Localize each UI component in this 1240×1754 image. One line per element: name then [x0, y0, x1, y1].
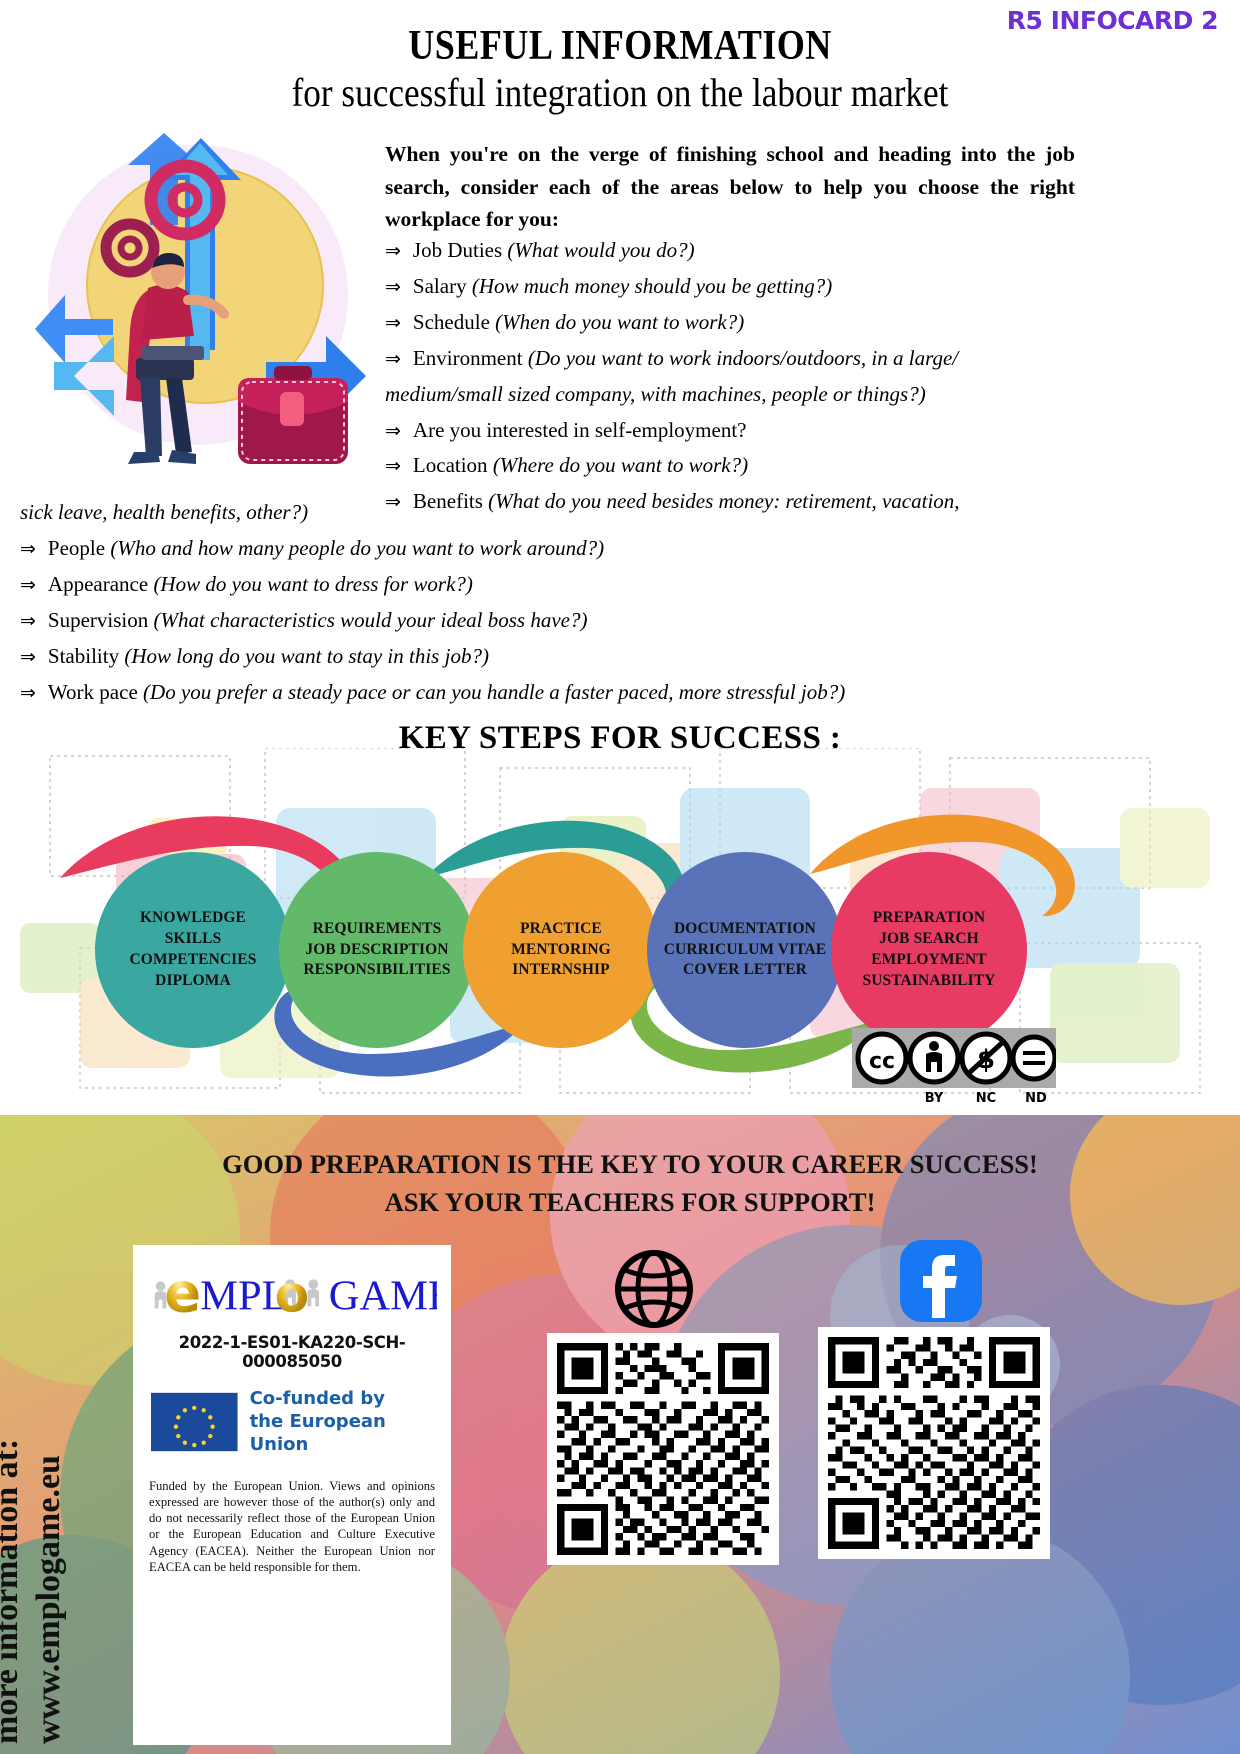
list-item-note: (What characteristics would your ideal b… [154, 608, 588, 632]
step-line: SKILLS [130, 929, 257, 950]
career-illustration [30, 130, 375, 490]
step-line: JOB DESCRIPTION [303, 940, 450, 961]
criteria-list-upper: ⇒Job Duties (What would you do?) ⇒Salary… [385, 235, 1085, 522]
list-item-note: (Who and how many people do you want to … [110, 536, 604, 560]
step-line: DOCUMENTATION [664, 919, 827, 940]
list-item-term: Salary [413, 274, 467, 298]
step-line: COMPETENCIES [130, 950, 257, 971]
qr-code-facebook[interactable] [818, 1327, 1050, 1559]
list-item: ⇒Environment (Do you want to work indoor… [385, 343, 1085, 375]
banner-headline-line1: GOOD PREPARATION IS THE KEY TO YOUR CARE… [130, 1145, 1130, 1183]
step-line: REQUIREMENTS [303, 919, 450, 940]
eu-flag-icon [151, 1391, 238, 1453]
arrow-bullet-icon: ⇒ [385, 313, 401, 334]
qr-code-website[interactable] [547, 1333, 779, 1565]
arrow-bullet-icon: ⇒ [20, 575, 36, 596]
arrow-bullet-icon: ⇒ [385, 349, 401, 370]
list-item-term: Location [413, 453, 488, 477]
list-item: ⇒Salary (How much money should you be ge… [385, 271, 1085, 303]
step-line: EMPLOYMENT [863, 950, 996, 971]
step-circle-practice[interactable]: PRACTICE MENTORING INTERNSHIP [463, 852, 659, 1048]
step-circle-preparation[interactable]: PREPARATION JOB SEARCH EMPLOYMENT SUSTAI… [831, 852, 1027, 1048]
arrow-bullet-icon: ⇒ [20, 611, 36, 632]
list-item-note: (How long do you want to stay in this jo… [124, 644, 489, 668]
list-item-term: Environment [413, 346, 523, 370]
list-item-note: (What would you do?) [507, 238, 694, 262]
title-subtitle: for successful integration on the labour… [74, 70, 1165, 116]
facebook-icon[interactable] [900, 1240, 982, 1322]
eu-funding-line2: the European Union [250, 1410, 439, 1456]
list-item: ⇒Work pace (Do you prefer a steady pace … [20, 677, 1220, 709]
list-item-continuation: sick leave, health benefits, other?) [20, 497, 1220, 529]
eu-funding-line1: Co-funded by [250, 1387, 439, 1410]
step-circle-documentation[interactable]: DOCUMENTATION CURRICULUM VITAE COVER LET… [647, 852, 843, 1048]
list-item-term: Appearance [48, 572, 148, 596]
eu-funding-block: Co-funded by the European Union [145, 1387, 439, 1456]
funding-disclaimer: Funded by the European Union. Views and … [145, 1478, 439, 1575]
svg-text:ND: ND [1025, 1091, 1047, 1106]
svg-text:o: o [275, 1264, 310, 1319]
svg-text:e: e [164, 1261, 201, 1319]
list-item-term: Work pace [48, 680, 138, 704]
arrow-bullet-icon: ⇒ [385, 241, 401, 262]
side-contact-text: more information at: www.emplogame.eu [6, 1115, 106, 1754]
intro-paragraph: When you're on the verge of finishing sc… [385, 138, 1075, 236]
list-item-continuation: medium/small sized company, with machine… [385, 379, 1085, 411]
step-line: MENTORING [511, 940, 611, 961]
list-item-term: Job Duties [413, 238, 502, 262]
svg-text:GAME: GAME [329, 1272, 437, 1319]
step-line: RESPONSIBILITIES [303, 960, 450, 981]
list-item: ⇒Location (Where do you want to work?) [385, 450, 1085, 482]
list-item: ⇒Supervision (What characteristics would… [20, 605, 1220, 637]
list-item-term: People [48, 536, 105, 560]
arrow-bullet-icon: ⇒ [20, 683, 36, 704]
step-line: CURRICULUM VITAE [664, 940, 827, 961]
arrow-bullet-icon: ⇒ [385, 421, 401, 442]
arrow-bullet-icon: ⇒ [20, 539, 36, 560]
list-item-note: (Do you prefer a steady pace or can you … [143, 680, 845, 704]
svg-text:NC: NC [976, 1091, 996, 1106]
step-line: JOB SEARCH [863, 929, 996, 950]
title-main: USEFUL INFORMATION [87, 24, 1153, 68]
list-item-note: (How much money should you be getting?) [472, 274, 832, 298]
arrow-bullet-icon: ⇒ [20, 647, 36, 668]
list-item-term: Supervision [48, 608, 148, 632]
globe-icon[interactable] [608, 1243, 700, 1335]
step-line: SUSTAINABILITY [863, 971, 996, 992]
list-item: ⇒Schedule (When do you want to work?) [385, 307, 1085, 339]
step-circle-knowledge[interactable]: KNOWLEDGE SKILLS COMPETENCIES DIPLOMA [95, 852, 291, 1048]
criteria-list-lower: sick leave, health benefits, other?) ⇒Pe… [20, 497, 1220, 712]
list-item: ⇒Are you interested in self-employment? [385, 415, 1085, 447]
eu-funding-text: Co-funded by the European Union [250, 1387, 439, 1456]
svg-text:cc: cc [869, 1049, 895, 1074]
emplogame-logo: e MPL o GAME [145, 1259, 439, 1321]
step-line: COVER LETTER [664, 960, 827, 981]
creative-commons-badge: cc $ BY NC ND [852, 1028, 1056, 1106]
arrow-bullet-icon: ⇒ [385, 456, 401, 477]
list-item-term: Schedule [413, 310, 490, 334]
svg-text:BY: BY [925, 1091, 944, 1106]
side-line-2: www.emplogame.eu [30, 1455, 68, 1744]
banner-headline-line2: ASK YOUR TEACHERS FOR SUPPORT! [130, 1183, 1130, 1221]
banner-headline: GOOD PREPARATION IS THE KEY TO YOUR CARE… [130, 1145, 1130, 1222]
list-item-note: (Where do you want to work?) [493, 453, 748, 477]
key-steps-circles: KNOWLEDGE SKILLS COMPETENCIES DIPLOMA RE… [95, 845, 1145, 1055]
list-item: ⇒People (Who and how many people do you … [20, 533, 1220, 565]
list-item-term: Are you interested in self-employment? [413, 418, 747, 442]
arrow-bullet-icon: ⇒ [385, 277, 401, 298]
project-code: 2022-1-ES01-KA220-SCH-000085050 [145, 1333, 439, 1371]
list-item: ⇒Stability (How long do you want to stay… [20, 641, 1220, 673]
list-item-term: Stability [48, 644, 119, 668]
step-circle-requirements[interactable]: REQUIREMENTS JOB DESCRIPTION RESPONSIBIL… [279, 852, 475, 1048]
step-line: DIPLOMA [130, 971, 257, 992]
step-line: KNOWLEDGE [130, 908, 257, 929]
list-item-note: (How do you want to dress for work?) [153, 572, 472, 596]
step-line: PREPARATION [863, 908, 996, 929]
list-item: ⇒Job Duties (What would you do?) [385, 235, 1085, 267]
bottom-banner: more information at: www.emplogame.eu GO… [0, 1115, 1240, 1754]
list-item: ⇒Appearance (How do you want to dress fo… [20, 569, 1220, 601]
list-item-note: (When do you want to work?) [495, 310, 744, 334]
project-logo-card: e MPL o GAME 2022-1-ES01-KA220-SCH-00008… [133, 1245, 451, 1745]
list-item-note: (Do you want to work indoors/outdoors, i… [528, 346, 958, 370]
step-line: INTERNSHIP [511, 960, 611, 981]
step-line: PRACTICE [511, 919, 611, 940]
side-line-1: more information at: [0, 1439, 26, 1744]
